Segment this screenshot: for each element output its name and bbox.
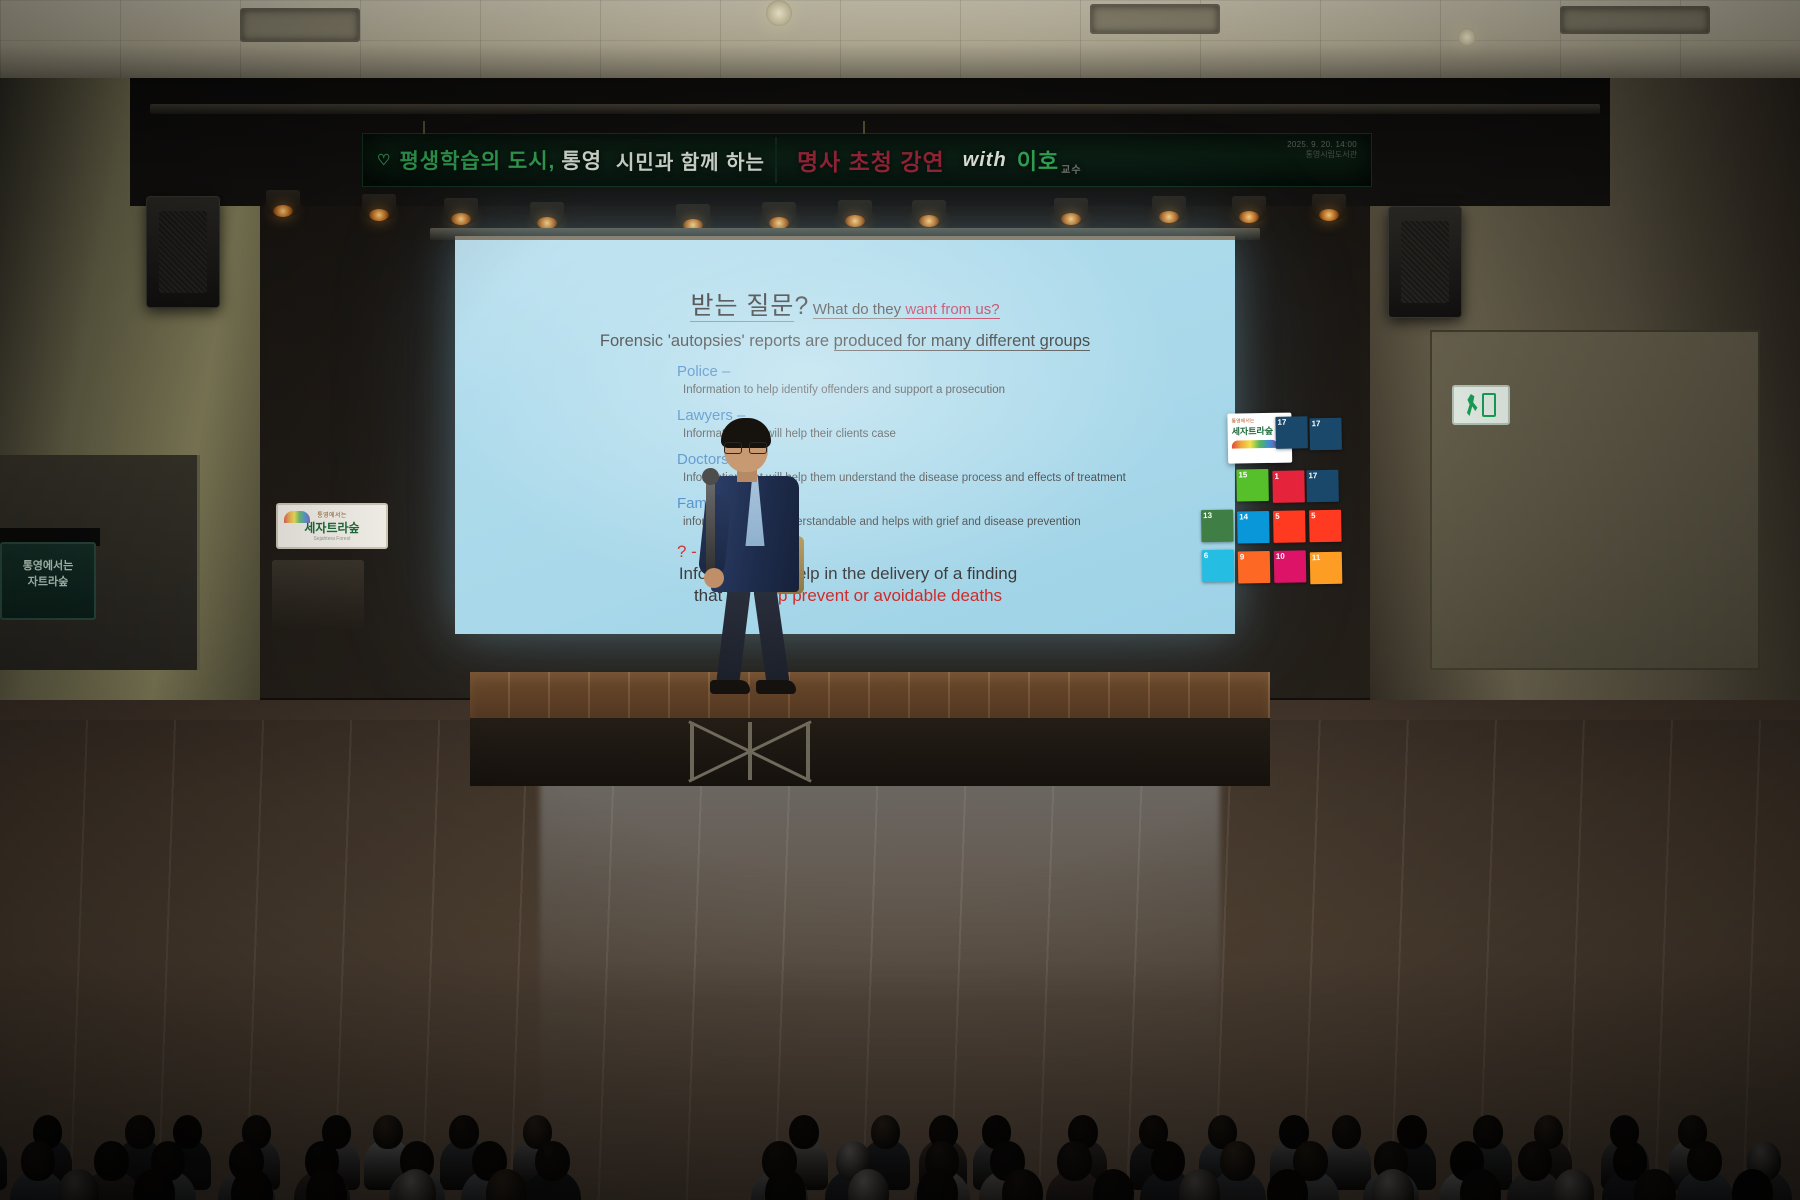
sdg-tile: 17 <box>1306 470 1339 503</box>
forest-sign-top: 통영에서는 <box>317 510 347 519</box>
banner-org-line2: 통영시립도서관 <box>1287 149 1357 160</box>
banner-text-green: 평생학습의 도시, <box>391 145 555 175</box>
audience-member-body <box>0 1139 7 1190</box>
audience-member-head <box>1220 1141 1254 1181</box>
audience-member-head <box>789 1115 818 1149</box>
ceiling-vent <box>240 8 360 42</box>
sdg-tile: 15 <box>1236 469 1269 502</box>
sdg-tile: 13 <box>1201 510 1234 543</box>
audience-member-head <box>1093 1169 1134 1200</box>
sdg-tile: 1 <box>1272 470 1305 503</box>
forest-sign-sub: Sejahtera Forest <box>314 536 351 542</box>
banner-org-logo: 2025. 9. 20. 14:00 통영시립도서관 <box>1287 140 1357 160</box>
audience-member-head <box>1151 1141 1185 1181</box>
banner-speaker-suffix: 교수 <box>1059 161 1081 186</box>
lighting-truss-bar <box>150 104 1600 114</box>
ceiling-light <box>1458 28 1476 46</box>
banner-speaker-name: 이호 <box>1007 144 1059 176</box>
audience-member-head <box>373 1115 402 1149</box>
forest-sign: 통영에서는 세자트라숲 Sejahtera Forest <box>276 503 388 549</box>
stage-light <box>912 200 946 226</box>
auditorium-scene: ♡ 평생학습의 도시, 통영 시민과 함께 하는 명사 초청 강연 with 이… <box>0 0 1800 1200</box>
ceiling <box>0 0 1800 80</box>
stage-light <box>1152 196 1186 222</box>
audience-member-head <box>871 1115 900 1149</box>
banner-text-red: 명사 초청 강연 <box>787 143 945 177</box>
audience-member-head <box>1687 1141 1721 1181</box>
banner-text-with: with <box>945 149 1007 172</box>
pa-speaker-left <box>146 196 220 308</box>
audience-member-head <box>125 1115 154 1149</box>
sdg-tile: 5 <box>1309 510 1342 543</box>
ceiling-vent <box>1560 6 1710 34</box>
stage-light <box>1312 194 1346 220</box>
audience-member-head <box>94 1141 128 1181</box>
ceiling-light <box>766 0 792 26</box>
stage-light <box>266 190 300 216</box>
stage-light <box>762 202 796 228</box>
pa-speaker-right <box>1388 206 1462 318</box>
sdg-tile: 17 <box>1275 416 1308 449</box>
audience <box>0 545 1800 1200</box>
sdg-tile: 14 <box>1237 511 1270 544</box>
audience-member-head <box>535 1141 569 1181</box>
banner-divider <box>775 137 777 183</box>
sdg-tile: 5 <box>1273 510 1306 543</box>
exit-door-icon <box>1482 393 1496 417</box>
running-man-icon <box>1466 394 1478 416</box>
exit-sign <box>1452 385 1510 425</box>
banner-org-line1: 2025. 9. 20. 14:00 <box>1287 140 1357 149</box>
stage-light <box>838 200 872 226</box>
event-banner: ♡ 평생학습의 도시, 통영 시민과 함께 하는 명사 초청 강연 with 이… <box>362 133 1372 187</box>
sdg-tile: 17 <box>1309 418 1342 451</box>
audience-member-head <box>449 1115 478 1149</box>
stage-light <box>676 204 710 230</box>
heart-icon: ♡ <box>363 151 391 169</box>
glasses-icon <box>723 442 769 454</box>
forest-sign-main: 세자트라숲 <box>304 519 359 536</box>
stage-light <box>1232 196 1266 222</box>
audience-member-head <box>1057 1141 1091 1181</box>
ceiling-vent <box>1090 4 1220 34</box>
audience-member-head <box>1397 1115 1426 1149</box>
stage-light <box>362 194 396 220</box>
audience-member-head <box>1332 1115 1361 1149</box>
rainbow-bar-icon <box>1232 440 1278 449</box>
banner-text-white: 시민과 함께 하는 <box>602 146 765 175</box>
stage-light <box>530 202 564 228</box>
stage-light <box>1054 198 1088 224</box>
audience-member-head <box>1473 1115 1502 1149</box>
audience-member-head <box>1518 1141 1552 1181</box>
banner-text-city: 통영 <box>555 145 602 175</box>
rainbow-bar-icon <box>284 511 310 523</box>
stage-light <box>444 198 478 224</box>
audience-member-head <box>21 1141 55 1181</box>
